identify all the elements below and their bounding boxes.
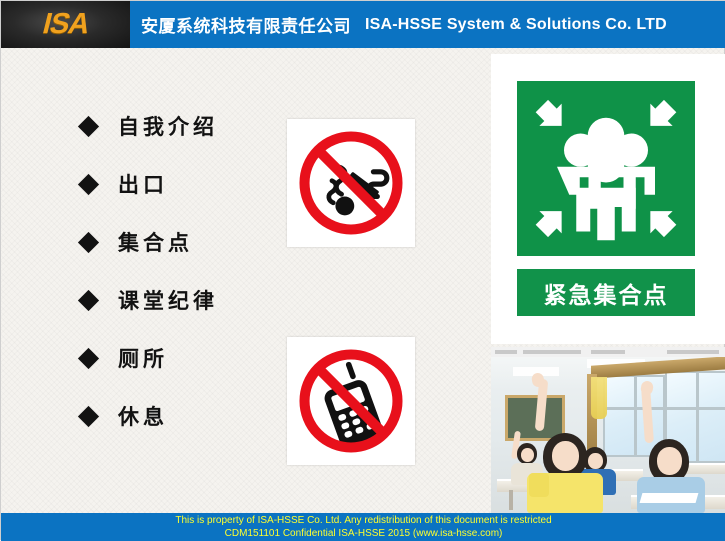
list-item[interactable]: 集合点 [81, 213, 291, 271]
diamond-bullet-icon [78, 173, 99, 194]
diamond-bullet-icon [78, 405, 99, 426]
no-mobile-phone-icon [295, 345, 407, 457]
diamond-bullet-icon [78, 289, 99, 310]
agenda-item-label: 课堂纪律 [118, 285, 218, 315]
diamond-bullet-icon [78, 347, 99, 368]
no-smoking-sign [287, 119, 415, 247]
assembly-point-sign [517, 81, 695, 256]
agenda-item-label: 集合点 [118, 227, 193, 257]
slide-footer: This is property of ISA-HSSE Co. Ltd. An… [1, 513, 725, 541]
isa-logo: ISA [1, 1, 130, 48]
assembly-point-banner: 紧急集合点 [517, 269, 695, 316]
agenda-item-label: 出口 [118, 169, 168, 199]
slide-canvas: ISA 安厦系统科技有限责任公司 ISA-HSSE System & Solut… [0, 0, 725, 540]
list-item[interactable]: 出口 [81, 155, 291, 213]
photo-watermark-strip [491, 347, 725, 357]
footer-line-2: CDM151101 Confidential ISA-HSSE 2015 (ww… [225, 527, 503, 540]
list-item[interactable]: 休息 [81, 387, 291, 445]
isa-logo-text: ISA [39, 7, 93, 40]
agenda-item-label: 厕所 [118, 343, 168, 373]
diamond-bullet-icon [78, 231, 99, 252]
assembly-point-icon [517, 81, 695, 256]
list-item[interactable]: 课堂纪律 [81, 271, 291, 329]
list-item[interactable]: 厕所 [81, 329, 291, 387]
header-title-chinese: 安厦系统科技有限责任公司 [141, 12, 351, 37]
header-title: 安厦系统科技有限责任公司 ISA-HSSE System & Solutions… [141, 1, 667, 48]
agenda-list: 自我介绍 出口 集合点 课堂纪律 厕所 休息 [81, 97, 291, 445]
assembly-point-banner-text: 紧急集合点 [544, 276, 669, 310]
agenda-item-label: 自我介绍 [118, 111, 218, 141]
header-title-english: ISA-HSSE System & Solutions Co. LTD [365, 16, 667, 34]
emergency-assembly-point-panel: 紧急集合点 [491, 54, 725, 344]
diamond-bullet-icon [78, 115, 99, 136]
no-smoking-icon [295, 127, 407, 239]
footer-line-1: This is property of ISA-HSSE Co. Ltd. An… [175, 514, 551, 527]
classroom-students-raising-hands-photo [491, 347, 725, 513]
slide-header: ISA 安厦系统科技有限责任公司 ISA-HSSE System & Solut… [1, 1, 725, 48]
no-mobile-phone-sign [287, 337, 415, 465]
agenda-item-label: 休息 [118, 401, 168, 431]
list-item[interactable]: 自我介绍 [81, 97, 291, 155]
